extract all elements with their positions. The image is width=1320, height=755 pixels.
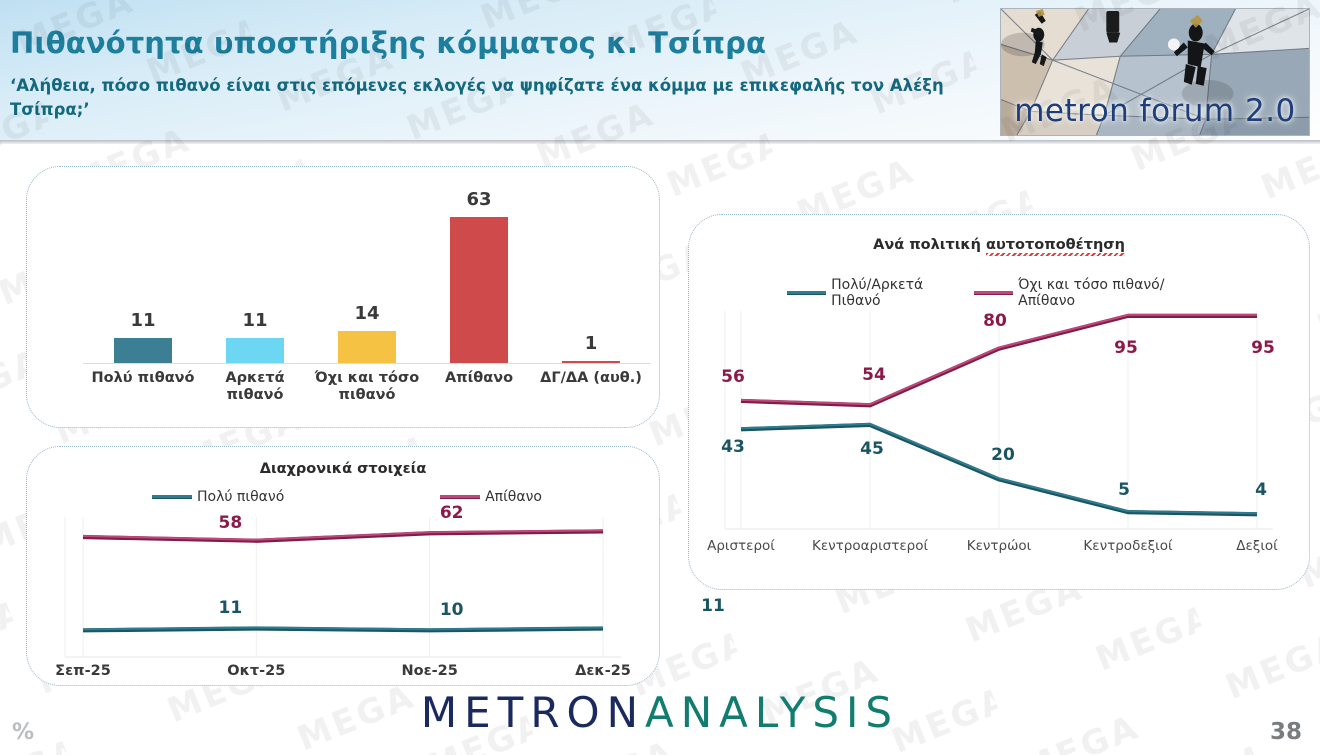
value-label-s2-3: 62: [407, 503, 497, 523]
bar-chart-panel: Πολύ πιθανόΑρκετά πιθανόΌχι και τόσο πιθ…: [26, 166, 660, 428]
metron-forum-logo: metron forum 2.0: [1000, 8, 1310, 136]
bar-3: [338, 331, 396, 363]
bar-4: [450, 217, 508, 363]
value-label-s2-2: 54: [829, 365, 919, 385]
value-label-s1-5: 4: [1216, 480, 1306, 500]
value-label-s1-3: 10: [407, 600, 497, 620]
brand-metron: METRON: [421, 688, 645, 737]
political-chart-legend: Πολύ/Αρκετά ΠιθανόΌχι και τόσο πιθανό/Απ…: [787, 277, 1217, 309]
value-label-s1-1: 10: [0, 600, 10, 620]
political-chart-title-spellchecked-word: αυτοτοποθέτηση: [986, 237, 1125, 253]
logo-text: metron forum 2.0: [1001, 93, 1309, 129]
political-chart-panel: Ανά πολιτική αυτοτοποθέτηση Πολύ/Αρκετά …: [688, 214, 1310, 590]
percent-unit-label: %: [12, 720, 34, 745]
legend-line-icon-1: [152, 495, 192, 499]
value-label-s1-2: 11: [185, 598, 275, 618]
value-label-s2-5: 95: [1218, 338, 1308, 358]
category-label-4: Δεκ-25: [516, 663, 689, 680]
trend-chart-plot: [65, 517, 621, 657]
page-number: 38: [1270, 719, 1302, 745]
political-chart-plot: [725, 311, 1273, 529]
bar-5: [562, 361, 620, 363]
brand-analysis: ANALYSIS: [645, 688, 899, 737]
slide-header: Πιθανότητα υποστήριξης κόμματος κ. Τσίπρ…: [0, 0, 1320, 144]
bar-2: [226, 338, 284, 363]
trend-chart-panel: Διαχρονικά στοιχεία Πολύ πιθανόΑπίθανο 1…: [26, 446, 660, 686]
question-subtitle: ‘Αλήθεια, πόσο πιθανό είναι στις επόμενε…: [10, 74, 970, 122]
value-label-s1-3: 20: [958, 445, 1048, 465]
bar-category-1: Πολύ πιθανό: [87, 370, 199, 387]
category-label-1: Σεπ-25: [0, 663, 170, 680]
legend-item-1[interactable]: Πολύ πιθανό: [152, 489, 284, 505]
bar-category-5: ΔΓ/ΔΑ (αυθ.): [535, 370, 647, 387]
bar-category-4: Απίθανο: [423, 370, 535, 387]
category-label-4: Κεντροδεξιοί: [1064, 539, 1193, 555]
category-label-1: Αριστεροί: [677, 539, 806, 555]
value-label-s2-1: 60: [0, 507, 10, 527]
value-label-s2-3: 80: [950, 311, 1040, 331]
bar-1: [114, 338, 172, 363]
political-chart-title: Ανά πολιτική αυτοτοποθέτηση: [689, 237, 1309, 253]
category-label-2: Κεντροαριστεροί: [806, 539, 935, 555]
legend-item-2[interactable]: Όχι και τόσο πιθανό/Απίθανο: [974, 277, 1217, 309]
value-label-s1-1: 43: [688, 437, 778, 457]
metron-analysis-brand: METRONANALYSIS: [0, 688, 1320, 737]
legend-line-icon-2: [974, 291, 1013, 295]
bar-value-4: 63: [429, 189, 529, 210]
legend-label-1: Πολύ πιθανό: [197, 489, 284, 505]
value-label-s1-4: 5: [1079, 480, 1169, 500]
category-label-3: Νοε-25: [343, 663, 516, 680]
bar-value-1: 11: [93, 310, 193, 331]
category-label-5: Δεξιοί: [1193, 539, 1320, 555]
legend-line-icon-2: [440, 495, 480, 499]
bar-category-2: Αρκετά πιθανό: [199, 370, 311, 404]
legend-line-icon-1: [787, 291, 826, 295]
category-label-3: Κεντρώοι: [935, 539, 1064, 555]
bar-value-3: 14: [317, 303, 417, 324]
series-line-1: [83, 627, 603, 629]
category-label-2: Οκτ-25: [170, 663, 343, 680]
value-label-s2-1: 56: [688, 367, 778, 387]
value-label-s2-4: 95: [1081, 338, 1171, 358]
value-label-s2-2: 58: [185, 513, 275, 533]
bar-chart-baseline: [83, 363, 651, 364]
value-label-s1-4: 11: [668, 596, 758, 616]
bar-value-2: 11: [205, 310, 305, 331]
bar-category-3: Όχι και τόσο πιθανό: [311, 370, 423, 404]
value-label-s1-2: 45: [827, 439, 917, 459]
legend-item-1[interactable]: Πολύ/Αρκετά Πιθανό: [787, 277, 974, 309]
legend-label-1: Πολύ/Αρκετά Πιθανό: [831, 277, 974, 309]
page-title: Πιθανότητα υποστήριξης κόμματος κ. Τσίπρ…: [10, 28, 766, 60]
trend-chart-title: Διαχρονικά στοιχεία: [27, 461, 659, 477]
legend-label-2: Όχι και τόσο πιθανό/Απίθανο: [1018, 277, 1217, 309]
political-chart-title-prefix: Ανά πολιτική: [873, 237, 986, 253]
bar-value-5: 1: [541, 333, 641, 354]
